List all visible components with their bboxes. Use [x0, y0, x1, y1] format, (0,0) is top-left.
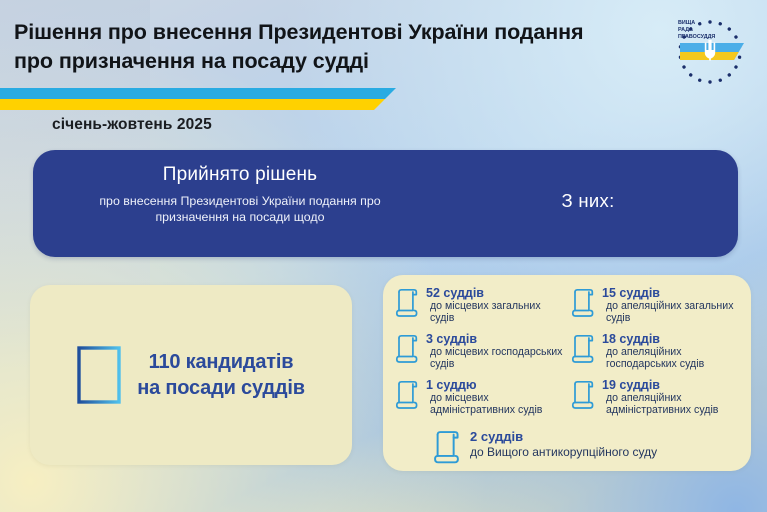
item-count: 15 суддів	[602, 286, 739, 300]
scroll-icon	[395, 288, 421, 318]
item-count: 52 суддів	[426, 286, 563, 300]
item-description: до апеляційних загальних судів	[602, 300, 739, 325]
decisions-banner: Прийнято рішень про внесення Президентов…	[33, 150, 738, 257]
item-count: 3 суддів	[426, 332, 563, 346]
candidates-card: 110 кандидатів на посади суддів	[30, 285, 352, 465]
flag-stripe-decoration	[0, 88, 400, 110]
page-title: Рішення про внесення Президентові Україн…	[14, 18, 634, 76]
period-label: січень-жовтень 2025	[52, 116, 212, 134]
svg-text:РАДА: РАДА	[678, 27, 693, 33]
document-icon	[77, 346, 121, 404]
candidates-text: 110 кандидатів на посади суддів	[137, 349, 305, 401]
item-count: 18 суддів	[602, 332, 739, 346]
item-count: 19 суддів	[602, 378, 739, 392]
item-count: 2 суддів	[470, 430, 657, 445]
item-count: 1 суддю	[426, 378, 563, 392]
item-description: до апеляційних господарських судів	[602, 346, 739, 371]
breakdown-local-courts-column: 52 суддів до місцевих загальних судів 3 …	[395, 286, 563, 416]
banner-left-block: Прийнято рішень про внесення Президентов…	[95, 164, 385, 226]
scroll-icon	[571, 380, 597, 410]
scroll-icon	[395, 334, 421, 364]
scroll-icon	[571, 334, 597, 364]
flag-stripe-yellow	[0, 99, 385, 110]
page-title-line2: про призначення на посаду судді	[14, 47, 634, 76]
vrp-logo: ВИЩА РАДА ПРАВОСУДДЯ	[664, 14, 756, 88]
item-description: до місцевих господарських судів	[426, 346, 563, 371]
svg-text:ВИЩА: ВИЩА	[678, 20, 695, 26]
candidates-line1: 110 кандидатів	[137, 349, 305, 375]
item-description: до місцевих адміністративних судів	[426, 392, 563, 417]
banner-right-label: З них:	[463, 190, 713, 212]
list-item: 18 суддів до апеляційних господарських с…	[571, 332, 739, 371]
svg-text:ПРАВОСУДДЯ: ПРАВОСУДДЯ	[678, 34, 715, 40]
item-description: до апеляційних адміністративних судів	[602, 392, 739, 417]
scroll-icon	[571, 288, 597, 318]
list-item: 1 суддю до місцевих адміністративних суд…	[395, 378, 563, 417]
banner-subtext: про внесення Президентові України поданн…	[95, 193, 385, 226]
breakdown-appeal-courts-column: 15 суддів до апеляційних загальних судів…	[571, 286, 739, 416]
list-item: 19 суддів до апеляційних адміністративни…	[571, 378, 739, 417]
candidates-line2: на посади суддів	[137, 375, 305, 401]
item-description: до місцевих загальних судів	[426, 300, 563, 325]
list-item-anticorruption: 2 суддів до Вищого антикорупційного суду	[433, 430, 657, 464]
list-item: 15 суддів до апеляційних загальних судів	[571, 286, 739, 325]
page-title-line1: Рішення про внесення Президентові Україн…	[14, 20, 583, 44]
banner-heading: Прийнято рішень	[95, 164, 385, 186]
list-item: 3 суддів до місцевих господарських судів	[395, 332, 563, 371]
breakdown-panel: 52 суддів до місцевих загальних судів 3 …	[383, 275, 751, 471]
list-item: 52 суддів до місцевих загальних судів	[395, 286, 563, 325]
item-description: до Вищого антикорупційного суду	[470, 445, 657, 459]
flag-stripe-blue	[0, 88, 396, 99]
scroll-icon	[395, 380, 421, 410]
scroll-icon	[433, 430, 463, 464]
